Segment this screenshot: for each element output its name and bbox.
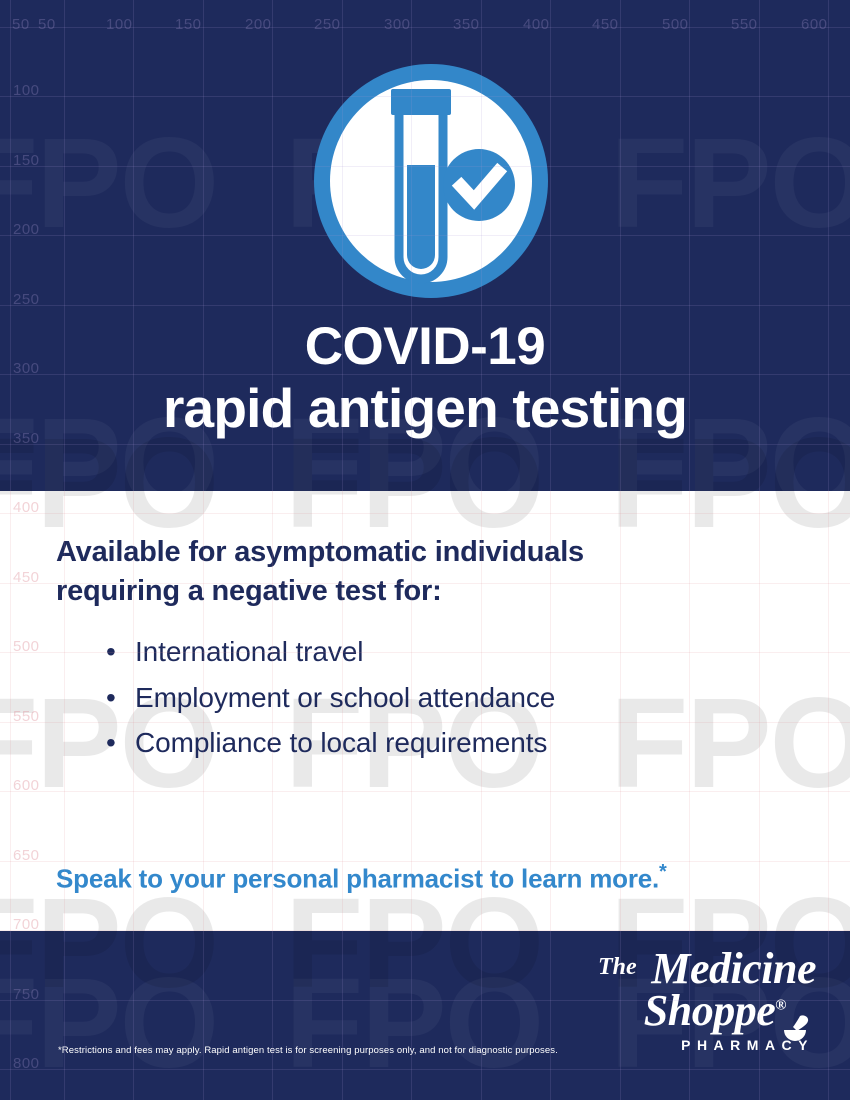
disclaimer-text: *Restrictions and fees may apply. Rapid … xyxy=(58,1045,618,1057)
eligibility-list: •International travel•Employment or scho… xyxy=(100,629,800,766)
poster-canvas: FPOFPOFPOFPOFPOFPOFPOFPOFPOFPOFPOFPOFPOF… xyxy=(0,0,850,1100)
headline-line-2: rapid antigen testing xyxy=(0,375,850,442)
list-item: •Compliance to local requirements xyxy=(100,720,800,766)
test-tube-check-icon xyxy=(311,61,551,301)
list-item-label: Compliance to local requirements xyxy=(135,727,547,758)
subheading-line-1: Available for asymptomatic individuals xyxy=(56,533,756,572)
headline-line-1: COVID-19 xyxy=(0,318,850,375)
subheading-line-2: requiring a negative test for: xyxy=(56,572,756,611)
list-item: •Employment or school attendance xyxy=(100,675,800,721)
bullet-marker-icon: • xyxy=(106,629,116,675)
bullet-marker-icon: • xyxy=(106,720,116,766)
list-item-label: International travel xyxy=(135,636,363,667)
list-item-label: Employment or school attendance xyxy=(135,682,555,713)
page-title: COVID-19 rapid antigen testing xyxy=(0,318,850,442)
medicine-shoppe-logo: The Medicine Shoppe® PHARMACY xyxy=(584,955,816,1053)
mortar-and-pestle-icon xyxy=(780,1013,814,1047)
poster-content: COVID-19 rapid antigen testing Available… xyxy=(0,0,850,1100)
logo-registered-mark: ® xyxy=(775,998,786,1014)
subheading: Available for asymptomatic individuals r… xyxy=(56,533,756,612)
logo-word-medicine: Medicine xyxy=(584,949,816,989)
logo-shoppe-text: Shoppe xyxy=(644,986,775,1035)
cta-label: Speak to your personal pharmacist to lea… xyxy=(56,864,659,894)
cta-footnote-marker: * xyxy=(659,861,667,883)
call-to-action-text: Speak to your personal pharmacist to lea… xyxy=(56,861,816,895)
list-item: •International travel xyxy=(100,629,800,675)
bullet-marker-icon: • xyxy=(106,675,116,721)
